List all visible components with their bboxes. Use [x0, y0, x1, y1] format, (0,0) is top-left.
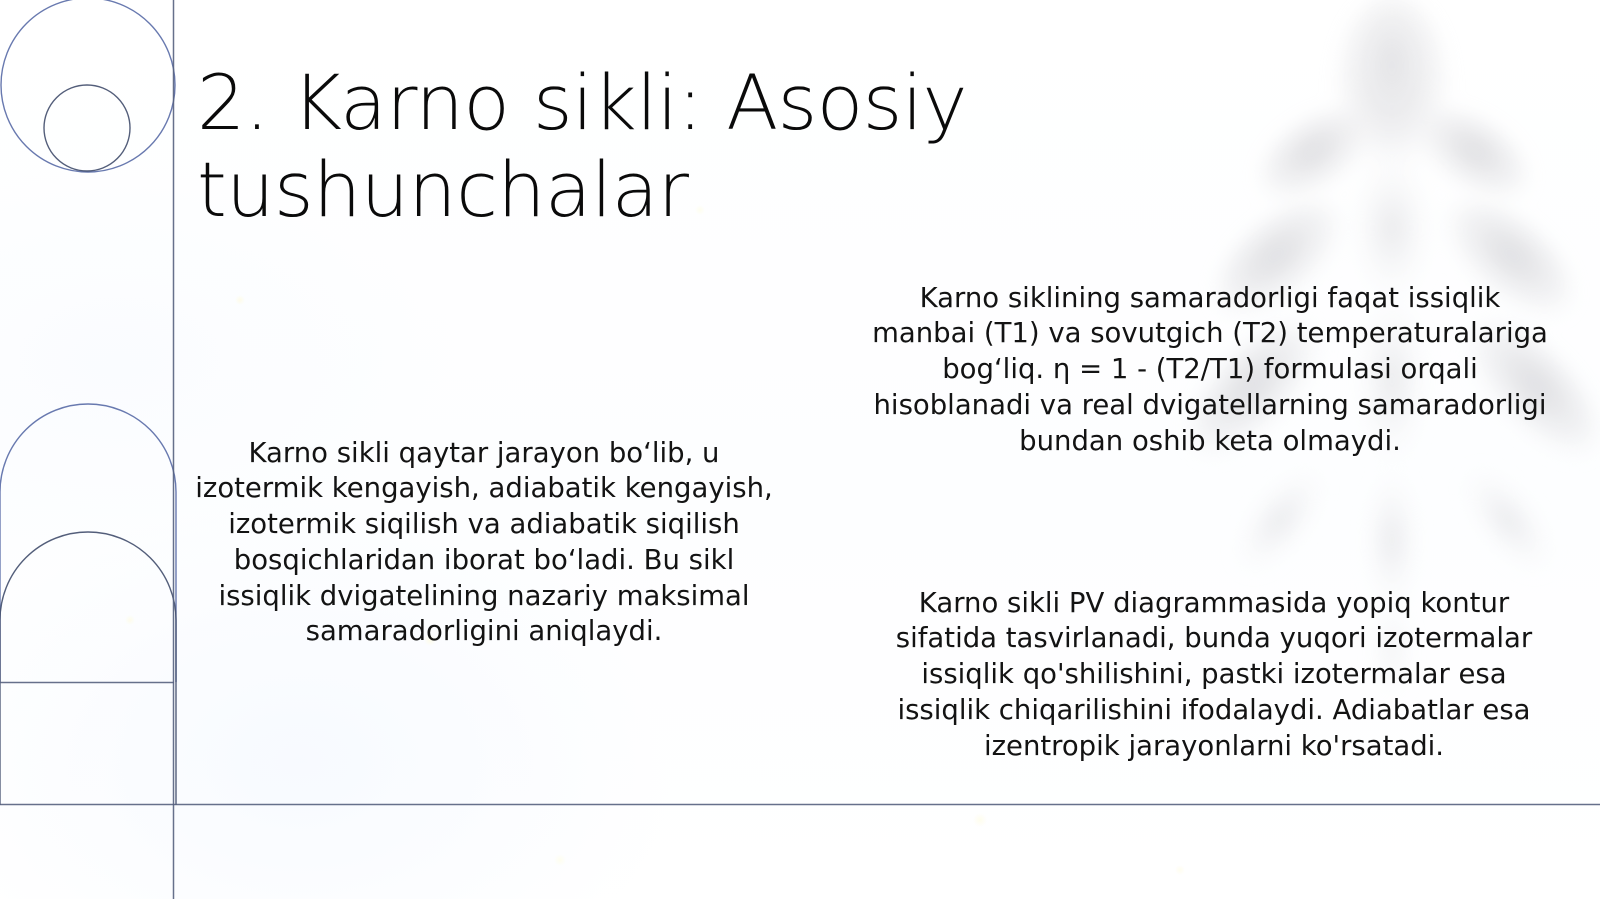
body-text-bottom-right: Karno sikli PV diagrammasida yopiq kontu…	[884, 586, 1544, 765]
slide-title: 2. Karno sikli: Asosiy tushunchalar	[197, 59, 1147, 234]
body-text-left: Karno sikli qaytar jarayon bo‘lib, u izo…	[186, 436, 782, 651]
upper-arch-outline	[0, 404, 176, 682]
body-text-top-right: Karno siklining samaradorligi faqat issi…	[872, 281, 1548, 460]
slide-canvas: 2. Karno sikli: Asosiy tushunchalar Karn…	[0, 0, 1600, 899]
large-circle-outline	[1, 0, 175, 172]
small-circle-outline	[44, 85, 130, 171]
lower-arch-outline	[0, 532, 176, 805]
